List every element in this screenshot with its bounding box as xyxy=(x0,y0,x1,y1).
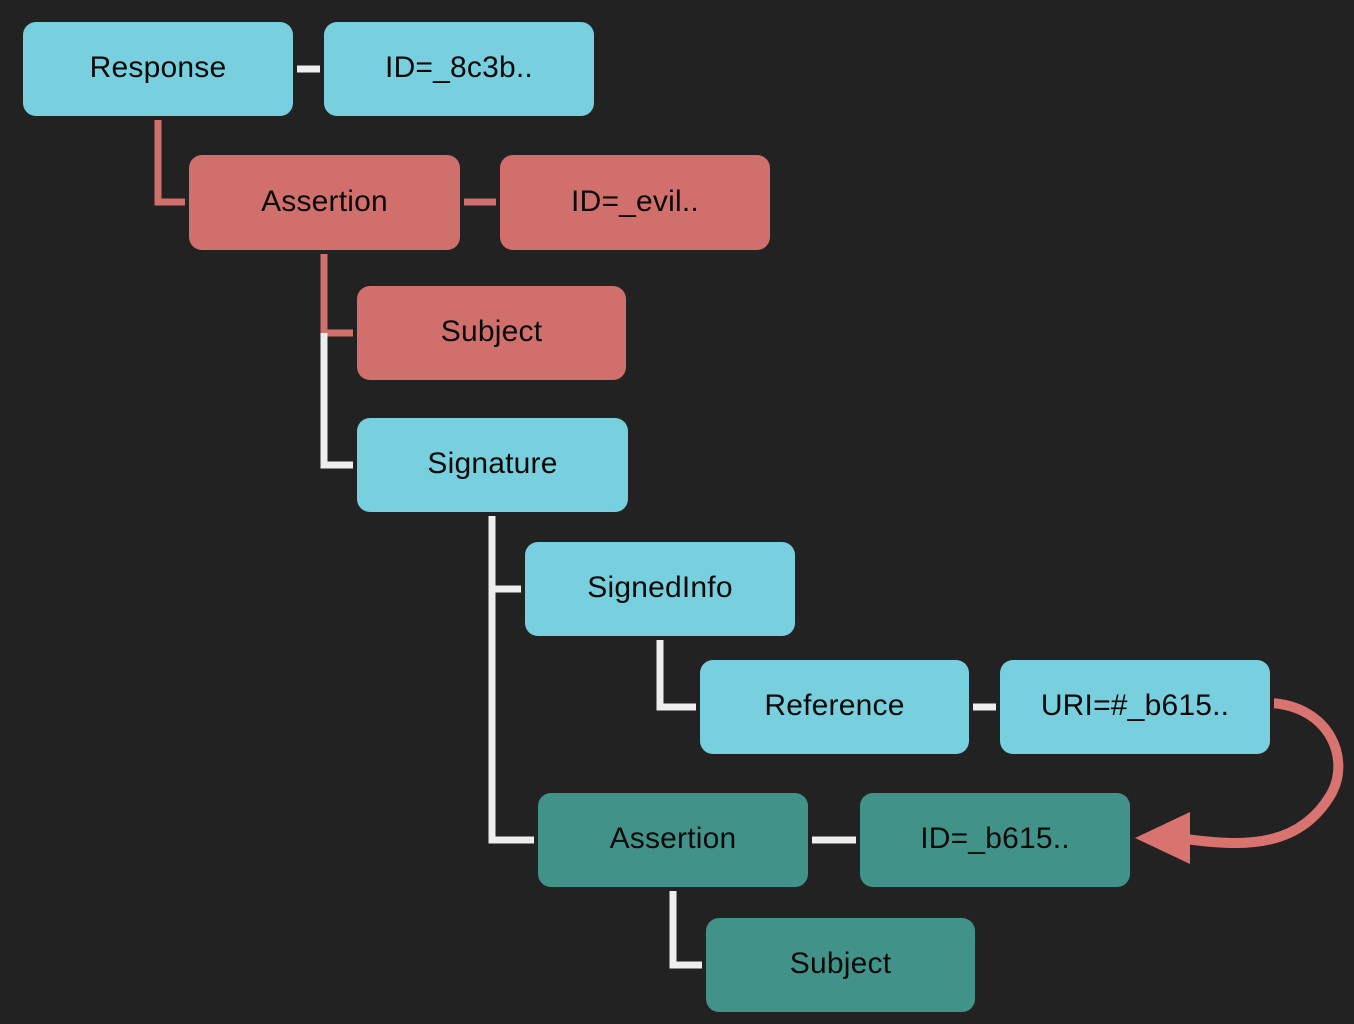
node-signedinfo[interactable]: SignedInfo xyxy=(525,542,795,636)
node-label: Subject xyxy=(790,949,891,979)
node-signed-id[interactable]: ID=_b615.. xyxy=(860,793,1130,887)
edge-signature-to-signedinfo xyxy=(492,512,525,589)
node-label: Assertion xyxy=(610,824,737,854)
edge-assertion-ok-to-subject xyxy=(673,887,706,965)
node-signature[interactable]: Signature xyxy=(357,418,628,512)
node-label: Signature xyxy=(427,449,557,479)
node-label: SignedInfo xyxy=(587,573,732,603)
edge-signedinfo-to-reference xyxy=(660,636,700,707)
node-label: Assertion xyxy=(261,187,388,217)
node-label: ID=_evil.. xyxy=(571,187,699,217)
node-response-id[interactable]: ID=_8c3b.. xyxy=(324,22,594,116)
edge-response-to-assertion xyxy=(158,116,189,202)
node-reference[interactable]: Reference xyxy=(700,660,969,754)
node-subject-signed[interactable]: Subject xyxy=(706,918,975,1012)
node-assertion-evil[interactable]: Assertion xyxy=(189,155,460,250)
node-label: ID=_b615.. xyxy=(920,824,1070,854)
node-uri[interactable]: URI=#_b615.. xyxy=(1000,660,1270,754)
diagram-canvas: ID=_b615.. curved reference arrow --> Re… xyxy=(0,0,1354,1024)
node-label: Response xyxy=(90,53,227,83)
node-label: ID=_8c3b.. xyxy=(385,53,533,83)
node-label: URI=#_b615.. xyxy=(1041,691,1229,721)
node-evil-id[interactable]: ID=_evil.. xyxy=(500,155,770,250)
node-label: Subject xyxy=(441,317,542,347)
node-assertion-signed[interactable]: Assertion xyxy=(538,793,808,887)
edge-assertion-to-signature xyxy=(324,333,357,465)
node-subject-evil[interactable]: Subject xyxy=(357,286,626,380)
node-response[interactable]: Response xyxy=(23,22,293,116)
node-label: Reference xyxy=(764,691,904,721)
edge-assertion-to-subject xyxy=(324,250,357,333)
arrowhead-icon xyxy=(1135,812,1190,864)
